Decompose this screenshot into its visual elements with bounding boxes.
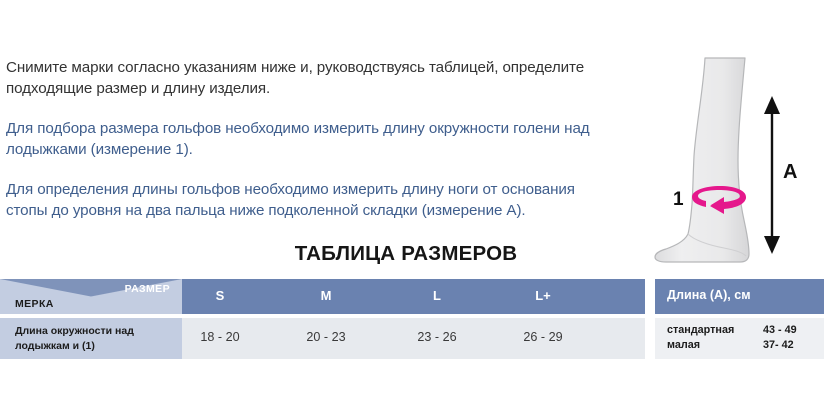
column-header-l-plus: L+	[508, 288, 578, 303]
cell-ankle-circumference-m: 20 - 23	[291, 330, 361, 344]
leg-measurement-illustration: 1 A	[650, 30, 824, 270]
cell-ankle-circumference-s: 18 - 20	[185, 330, 255, 344]
corner-size-label: РАЗМЕР	[0, 283, 170, 295]
length-table: Длина (A), см стандартная 43 - 49 малая …	[655, 279, 824, 359]
length-table-header-row: Длина (A), см	[655, 279, 824, 314]
column-header-s: S	[185, 288, 255, 303]
size-table-title: ТАБЛИЦА РАЗМЕРОВ	[282, 242, 530, 266]
column-header-m: M	[291, 288, 361, 303]
cell-ankle-circumference-l-plus: 26 - 29	[508, 330, 578, 344]
instructions-block: Снимите марки согласно указаниям ниже и,…	[6, 57, 606, 221]
length-table-header-label: Длина (A), см	[667, 288, 751, 302]
ankle-marker-label: 1	[673, 189, 684, 210]
size-table: РАЗМЕР МЕРКА S M L L+ Длина окружности н…	[0, 279, 645, 359]
row-header-label: Длина окружности над лодыжкам и (1)	[15, 324, 175, 354]
length-row-standard: стандартная 43 - 49	[655, 324, 824, 339]
length-row-small-label: малая	[667, 339, 700, 351]
length-measure-arrow-icon	[764, 96, 780, 254]
leg-silhouette	[655, 58, 749, 262]
corner-measure-label: МЕРКА	[15, 298, 54, 310]
length-row-small: малая 37- 42	[655, 339, 824, 354]
length-table-body: стандартная 43 - 49 малая 37- 42	[655, 318, 824, 359]
length-row-small-value: 37- 42	[763, 339, 794, 351]
length-measure-label: A	[783, 161, 797, 183]
instruction-paragraph-3: Для определения длины гольфов необходимо…	[6, 179, 606, 221]
size-table-header-row: РАЗМЕР МЕРКА S M L L+	[0, 279, 645, 314]
length-row-standard-value: 43 - 49	[763, 324, 797, 336]
instruction-paragraph-1: Снимите марки согласно указаниям ниже и,…	[6, 57, 606, 99]
column-header-l: L	[402, 288, 472, 303]
cell-ankle-circumference-l: 23 - 26	[402, 330, 472, 344]
table-row: Длина окружности над лодыжкам и (1) 18 -…	[0, 318, 645, 359]
instruction-paragraph-2: Для подбора размера гольфов необходимо и…	[6, 118, 606, 160]
length-row-standard-label: стандартная	[667, 324, 734, 336]
